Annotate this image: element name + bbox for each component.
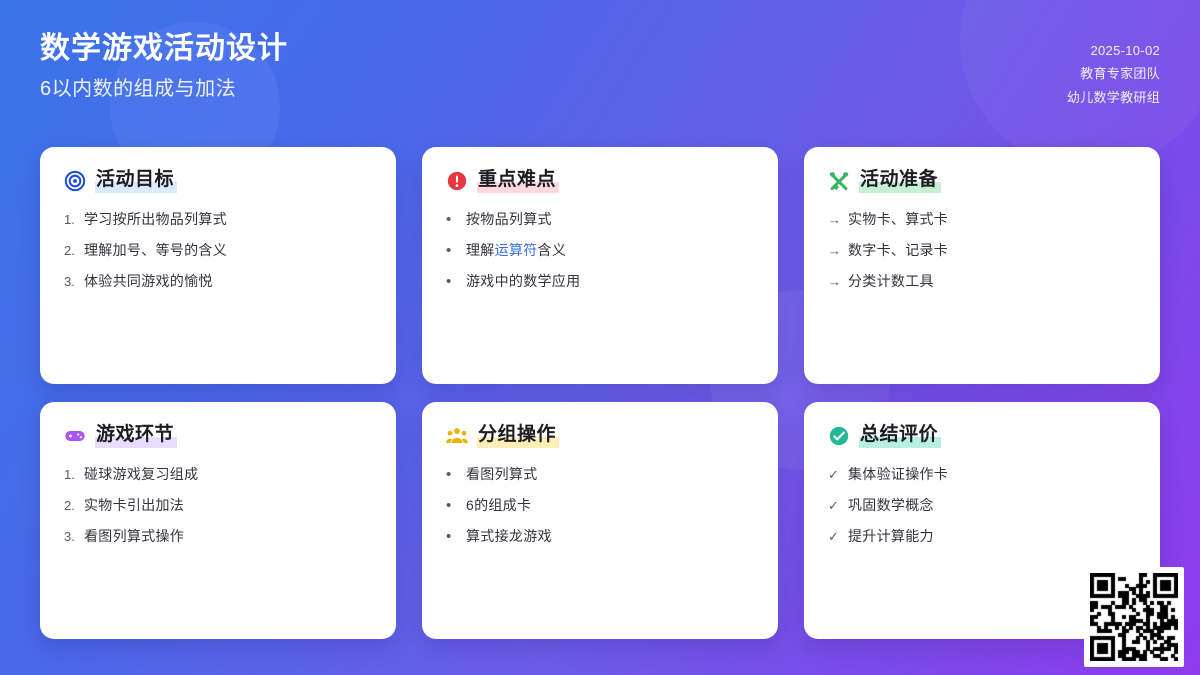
list-item: ✓集体验证操作卡 [828, 465, 1136, 484]
card-game-steps: 游戏环节1.碰球游戏复习组成2.实物卡引出加法3.看图列算式操作 [40, 402, 396, 639]
list-item-text: 分类计数工具 [848, 272, 934, 291]
list-marker: • [446, 212, 459, 229]
list-item: 2.实物卡引出加法 [64, 496, 372, 515]
check-circle-icon [828, 425, 850, 447]
card-objectives: 活动目标1.学习按所出物品列算式2.理解加号、等号的含义3.体验共同游戏的愉悦 [40, 147, 396, 384]
list-marker: • [446, 529, 459, 546]
list-item: •游戏中的数学应用 [446, 272, 754, 291]
qr-code[interactable] [1084, 567, 1184, 667]
list-item-text: 学习按所出物品列算式 [84, 210, 227, 229]
gamepad-icon [64, 425, 86, 447]
list-item: 3.看图列算式操作 [64, 527, 372, 546]
target-icon [64, 170, 86, 192]
list-item: •理解运算符含义 [446, 241, 754, 260]
list-item-text: 算式接龙游戏 [466, 527, 552, 546]
list-marker: 3. [64, 273, 77, 291]
card-header: 活动准备 [828, 169, 1136, 192]
list-marker: → [828, 211, 841, 229]
list-marker: 1. [64, 466, 77, 484]
list-marker: ✓ [828, 528, 841, 546]
list-item: 1.学习按所出物品列算式 [64, 210, 372, 229]
header-organization: 教育专家团队 [1080, 65, 1160, 83]
page-subtitle: 6以内数的组成与加法 [40, 77, 288, 101]
header-team: 幼儿数学教研组 [1067, 89, 1160, 107]
card-title: 重点难点 [477, 169, 559, 192]
card-title: 活动准备 [859, 169, 941, 192]
card-title: 分组操作 [477, 424, 559, 447]
card-title: 游戏环节 [95, 424, 177, 447]
list-item: →分类计数工具 [828, 272, 1136, 291]
list-item: 2.理解加号、等号的含义 [64, 241, 372, 260]
card-title: 总结评价 [859, 424, 941, 447]
list-item: 1.碰球游戏复习组成 [64, 465, 372, 484]
list-item-text: 看图列算式操作 [84, 527, 184, 546]
card-item-list: •按物品列算式•理解运算符含义•游戏中的数学应用 [446, 210, 754, 291]
card-header: 活动目标 [64, 169, 372, 192]
accent-term: 运算符 [495, 242, 538, 258]
list-item-text: 游戏中的数学应用 [466, 272, 580, 291]
list-marker: 1. [64, 211, 77, 229]
list-marker: • [446, 243, 459, 260]
list-marker: → [828, 242, 841, 260]
list-item-text: 理解运算符含义 [466, 241, 566, 260]
list-item-text: 理解加号、等号的含义 [84, 241, 227, 260]
card-header: 总结评价 [828, 424, 1136, 447]
exclamation-circle-icon [446, 170, 468, 192]
list-item-text: 6的组成卡 [466, 496, 531, 515]
card-grid: 活动目标1.学习按所出物品列算式2.理解加号、等号的含义3.体验共同游戏的愉悦 … [40, 147, 1160, 639]
list-item: •算式接龙游戏 [446, 527, 754, 546]
card-item-list: ✓集体验证操作卡✓巩固数学概念✓提升计算能力 [828, 465, 1136, 546]
list-item-text: 数字卡、记录卡 [848, 241, 948, 260]
header-meta-block: 2025-10-02 教育专家团队 幼儿数学教研组 [1067, 30, 1160, 107]
page-title: 数学游戏活动设计 [40, 30, 288, 68]
list-marker: 2. [64, 242, 77, 260]
list-item: →实物卡、算式卡 [828, 210, 1136, 229]
list-item-text: 碰球游戏复习组成 [84, 465, 198, 484]
list-item-text: 实物卡、算式卡 [848, 210, 948, 229]
list-item: ✓巩固数学概念 [828, 496, 1136, 515]
card-preparation: 活动准备→实物卡、算式卡→数字卡、记录卡→分类计数工具 [804, 147, 1160, 384]
list-item-text: 按物品列算式 [466, 210, 552, 229]
card-group-work: 分组操作•看图列算式•6的组成卡•算式接龙游戏 [422, 402, 778, 639]
list-item: •6的组成卡 [446, 496, 754, 515]
card-item-list: 1.学习按所出物品列算式2.理解加号、等号的含义3.体验共同游戏的愉悦 [64, 210, 372, 291]
card-item-list: •看图列算式•6的组成卡•算式接龙游戏 [446, 465, 754, 546]
list-item: →数字卡、记录卡 [828, 241, 1136, 260]
slide-header: 数学游戏活动设计 6以内数的组成与加法 2025-10-02 教育专家团队 幼儿… [0, 0, 1200, 132]
card-title: 活动目标 [95, 169, 177, 192]
card-item-list: →实物卡、算式卡→数字卡、记录卡→分类计数工具 [828, 210, 1136, 291]
list-marker: 2. [64, 497, 77, 515]
list-marker: • [446, 274, 459, 291]
slide-canvas: 数学游戏活动设计 6以内数的组成与加法 2025-10-02 教育专家团队 幼儿… [0, 0, 1200, 675]
qr-code-image [1090, 573, 1178, 661]
list-item: ✓提升计算能力 [828, 527, 1136, 546]
card-key-points: 重点难点•按物品列算式•理解运算符含义•游戏中的数学应用 [422, 147, 778, 384]
card-header: 重点难点 [446, 169, 754, 192]
list-item-text: 实物卡引出加法 [84, 496, 184, 515]
list-marker: → [828, 273, 841, 291]
list-item: 3.体验共同游戏的愉悦 [64, 272, 372, 291]
card-header: 分组操作 [446, 424, 754, 447]
list-item: •看图列算式 [446, 465, 754, 484]
list-item-text: 体验共同游戏的愉悦 [84, 272, 213, 291]
list-marker: ✓ [828, 466, 841, 484]
card-item-list: 1.碰球游戏复习组成2.实物卡引出加法3.看图列算式操作 [64, 465, 372, 546]
header-date: 2025-10-02 [1091, 42, 1161, 60]
list-item-text: 提升计算能力 [848, 527, 934, 546]
list-item-text: 巩固数学概念 [848, 496, 934, 515]
list-item-text: 集体验证操作卡 [848, 465, 948, 484]
list-marker: 3. [64, 528, 77, 546]
list-marker: ✓ [828, 497, 841, 515]
list-marker: • [446, 498, 459, 515]
header-title-block: 数学游戏活动设计 6以内数的组成与加法 [40, 30, 288, 101]
list-marker: • [446, 467, 459, 484]
tools-icon [828, 170, 850, 192]
card-header: 游戏环节 [64, 424, 372, 447]
list-item: •按物品列算式 [446, 210, 754, 229]
list-item-text: 看图列算式 [466, 465, 538, 484]
people-group-icon [446, 425, 468, 447]
